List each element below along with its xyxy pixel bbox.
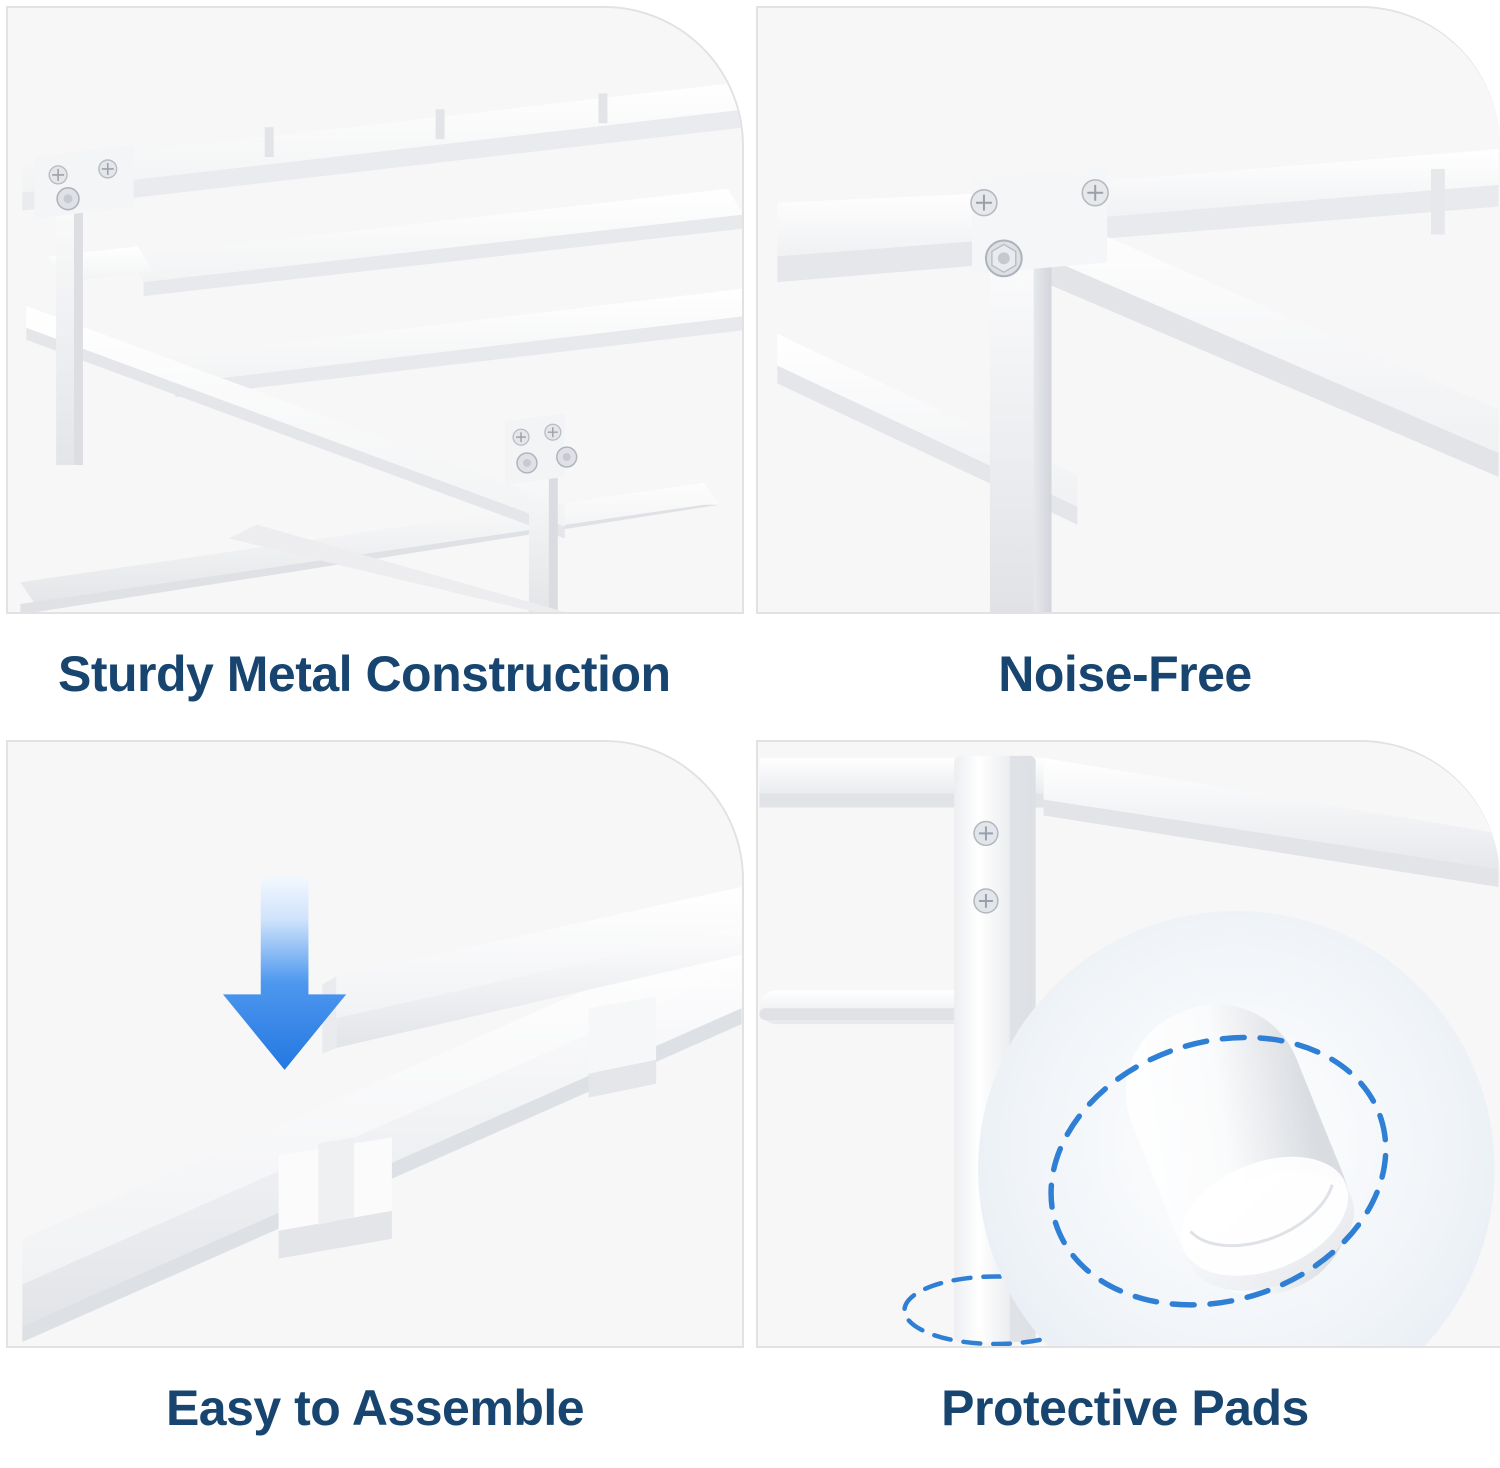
feature-caption-sturdy-metal-construction: Sturdy Metal Construction [0, 614, 750, 734]
screw-icon [1082, 180, 1108, 206]
feature-image-easy-to-assemble [6, 740, 744, 1348]
feature-grid: Sturdy Metal Construction [0, 0, 1500, 1468]
feature-cell-protective-pads: Protective Pads [750, 734, 1500, 1468]
slat-into-bracket-illustration [8, 742, 742, 1346]
feature-caption-noise-free: Noise-Free [750, 614, 1500, 734]
bracket-hook [279, 1137, 392, 1258]
feature-caption-easy-to-assemble: Easy to Assemble [0, 1348, 750, 1468]
feature-label: Noise-Free [998, 645, 1251, 703]
screw-icon [513, 429, 529, 445]
feature-collage: Sturdy Metal Construction [0, 0, 1500, 1468]
feature-caption-protective-pads: Protective Pads [750, 1348, 1500, 1468]
screw-icon [974, 889, 998, 913]
frame-corner-bracket-top [34, 145, 133, 219]
joint-bracket [971, 167, 1108, 276]
feature-cell-easy-to-assemble: Easy to Assemble [0, 734, 750, 1468]
bed-frame-slats-illustration [8, 8, 742, 612]
feature-label: Easy to Assemble [166, 1379, 584, 1437]
bolt-icon [557, 447, 577, 467]
frame-corner-joint-illustration [758, 8, 1500, 612]
screw-icon [974, 821, 998, 845]
screw-icon [971, 190, 997, 216]
rail-end-tab [1431, 169, 1445, 235]
screw-icon [545, 424, 561, 440]
feature-cell-sturdy-metal-construction: Sturdy Metal Construction [0, 0, 750, 734]
feature-image-sturdy-metal-construction [6, 6, 744, 614]
feature-image-protective-pads [756, 740, 1500, 1348]
feature-cell-noise-free: Noise-Free [750, 0, 1500, 734]
feature-label: Sturdy Metal Construction [58, 645, 671, 703]
screw-icon [49, 166, 67, 184]
feature-image-noise-free [756, 6, 1500, 614]
leg-post [990, 242, 1052, 612]
bolt-icon [517, 453, 537, 473]
screw-icon [99, 160, 117, 178]
protective-pad-illustration [758, 742, 1500, 1346]
hex-bolt-icon [986, 240, 1022, 276]
bracket-hook-far [589, 996, 657, 1097]
bolt-icon [57, 188, 79, 210]
feature-label: Protective Pads [941, 1379, 1309, 1437]
